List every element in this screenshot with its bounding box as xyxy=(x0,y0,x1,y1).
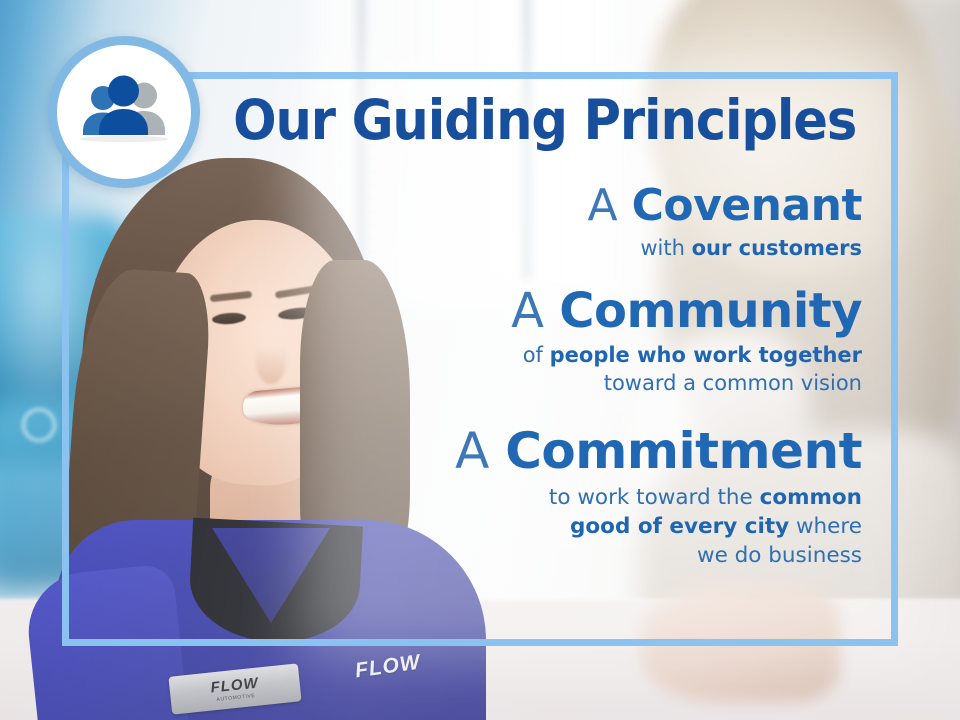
principle-community: A Community of people who work together … xyxy=(230,285,862,398)
principle-sub-line: to work toward the common xyxy=(230,483,862,512)
principle-sub-part: of xyxy=(523,343,550,367)
principle-word: Commitment xyxy=(505,422,862,480)
principle-word: Covenant xyxy=(632,180,862,231)
principle-sub-part-bold: common xyxy=(760,485,862,510)
principle-sub-part: with xyxy=(640,236,691,260)
principle-title: A Commitment xyxy=(230,424,862,479)
principle-sub-line: toward a common vision xyxy=(230,369,862,397)
principle-sub-line: we do business xyxy=(230,541,862,570)
principle-sub-line: good of every city where xyxy=(230,512,862,541)
principle-sub-line: of people who work together xyxy=(230,341,862,369)
guiding-principles-graphic: FLOW AUTOMOTIVE FLOW xyxy=(0,0,960,720)
principle-subtitle: of people who work together toward a com… xyxy=(230,341,862,397)
principle-article: A xyxy=(511,283,544,339)
people-group-icon xyxy=(74,75,174,149)
principle-covenant: A Covenant with our customers xyxy=(230,182,862,263)
principle-article: A xyxy=(587,180,617,231)
principle-sub-part-bold: people who work together xyxy=(550,343,862,367)
vehicle-badge-icon xyxy=(22,408,56,442)
people-group-badge xyxy=(48,36,200,188)
principles-list: A Covenant with our customers A Communit… xyxy=(230,182,862,576)
principle-sub-part-bold: our customers xyxy=(692,236,862,260)
principle-article: A xyxy=(455,422,489,480)
principle-subtitle: with our customers xyxy=(230,234,862,262)
customer-hand xyxy=(640,582,840,702)
principle-subtitle: to work toward the common good of every … xyxy=(230,483,862,571)
page-title: Our Guiding Principles xyxy=(233,92,847,149)
principle-commitment: A Commitment to work toward the common g… xyxy=(230,424,862,571)
principle-word: Community xyxy=(559,283,862,339)
principle-sub-part-bold: good of every city xyxy=(570,514,789,539)
principle-title: A Covenant xyxy=(230,182,862,230)
principle-title: A Community xyxy=(230,285,862,338)
